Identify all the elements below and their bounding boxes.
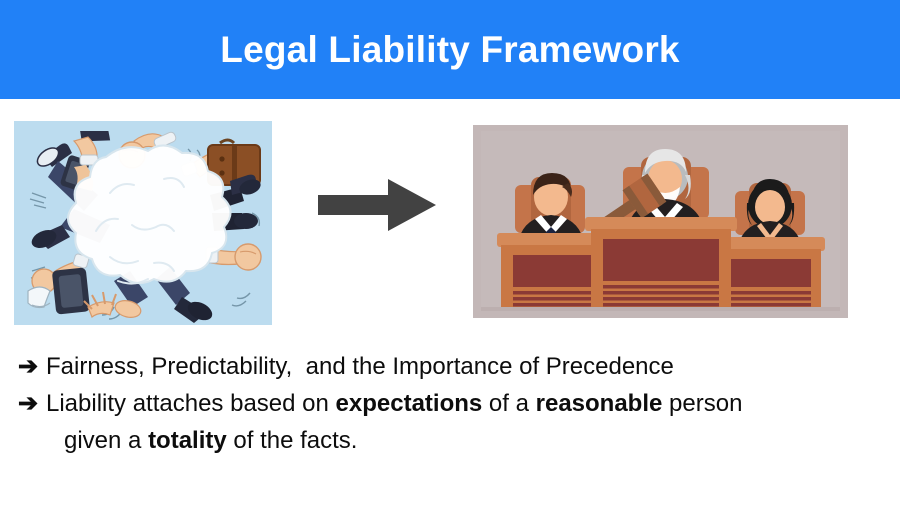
bullet-segment-emphasis: reasonable (536, 390, 663, 417)
bullet-segment: Liability attaches based on (46, 390, 336, 417)
arrow-bullet-icon: ➔ (18, 385, 46, 422)
bullet-segment: given a (64, 427, 148, 454)
bullet-text: Fairness, Predictability, and the Import… (46, 348, 888, 385)
brawl-svg (14, 121, 272, 325)
bullet-segment-emphasis: totality (148, 427, 227, 454)
bullet-segment: of a (482, 390, 535, 417)
brawl-fight-cloud-illustration (14, 121, 272, 325)
list-item: ➔ Liability attaches based on expectatio… (18, 385, 888, 422)
arrow-bullet-icon: ➔ (18, 348, 46, 385)
page-title: Legal Liability Framework (220, 31, 679, 68)
bullet-segment-emphasis: expectations (336, 390, 483, 417)
bullet-segment: of the facts. (227, 427, 358, 454)
bullet-continuation-line: given a totality of the facts. (18, 422, 888, 459)
right-arrow-icon (318, 179, 436, 231)
slide-title-banner: Legal Liability Framework (0, 0, 900, 99)
arrow-svg (318, 179, 436, 231)
courtroom-judges-bench-illustration (473, 125, 848, 318)
media-row (0, 99, 900, 344)
courtroom-svg (473, 125, 848, 318)
bullet-segment: Fairness, Predictability, and the Import… (46, 353, 674, 380)
bullet-segment: person (662, 390, 742, 417)
list-item: ➔ Fairness, Predictability, and the Impo… (18, 348, 888, 385)
bullet-text: Liability attaches based on expectations… (46, 385, 888, 422)
bullet-list: ➔ Fairness, Predictability, and the Impo… (18, 348, 888, 459)
